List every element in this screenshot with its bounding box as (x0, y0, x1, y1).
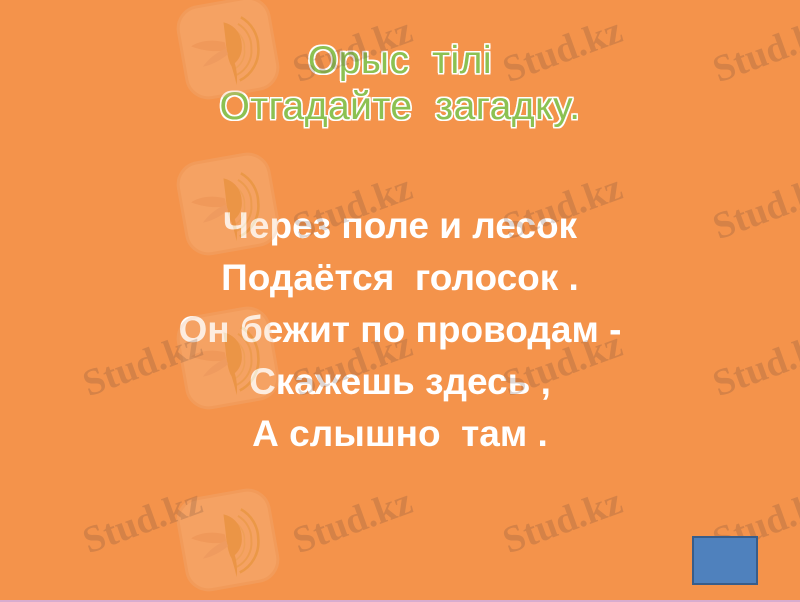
title-line-instruction: Отгадайте загадку. (0, 84, 800, 130)
hummingbird-logo-icon (172, 484, 284, 596)
riddle-line-2: Подаётся голосок . (0, 252, 800, 304)
riddle-text: Через поле и лесок Подаётся голосок . Он… (0, 200, 800, 460)
blue-rectangle-shape[interactable] (692, 536, 758, 585)
watermark-text: Stud.kz (497, 479, 628, 563)
slide-title: Орыс тілі Отгадайте загадку. (0, 38, 800, 130)
watermark-text: Stud.kz (287, 479, 418, 563)
slide-canvas: Stud.kz Stud.kz Stud.kz Stud.kz Stud.kz … (0, 0, 800, 602)
riddle-line-3: Он бежит по проводам - (0, 304, 800, 356)
riddle-line-1: Через поле и лесок (0, 200, 800, 252)
title-line-subject: Орыс тілі (0, 38, 800, 84)
riddle-line-5: А слышно там . (0, 408, 800, 460)
watermark-text: Stud.kz (77, 479, 208, 563)
riddle-line-4: Скажешь здесь , (0, 356, 800, 408)
